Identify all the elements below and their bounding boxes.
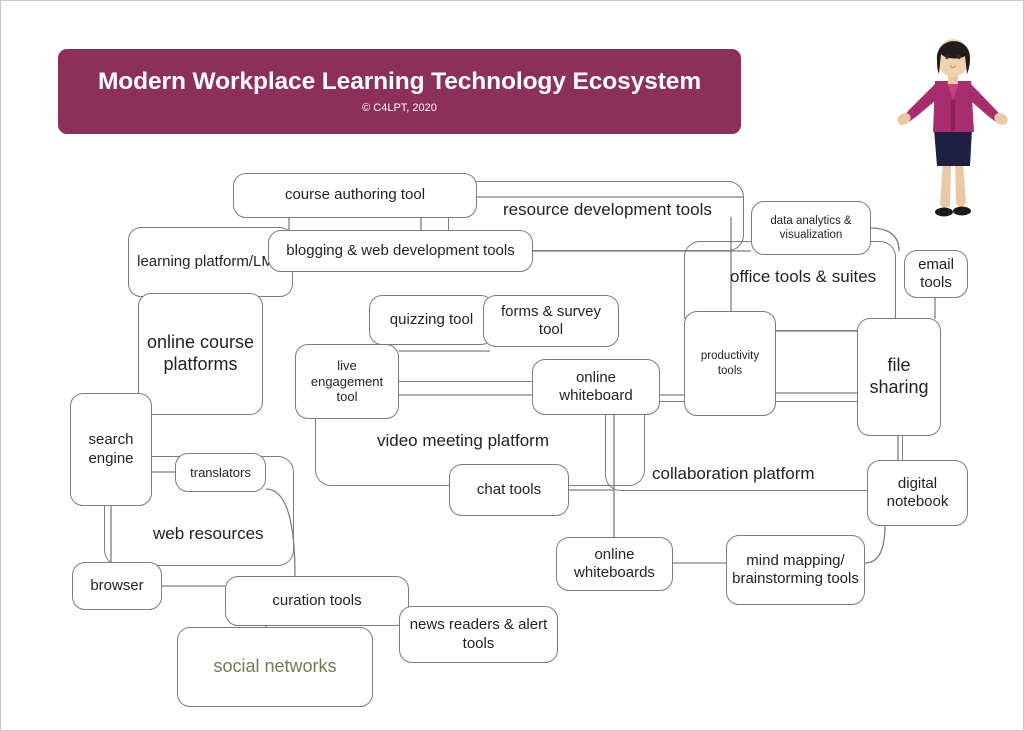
- node-file-sharing[interactable]: file sharing: [857, 318, 941, 436]
- ecosystem-diagram: resource development tools office tools …: [1, 1, 1024, 731]
- diagram-page: Modern Workplace Learning Technology Eco…: [0, 0, 1024, 731]
- node-data-analytics-visualization[interactable]: data analytics & visualization: [751, 201, 871, 255]
- region-label-resource-development-tools: resource development tools: [503, 200, 712, 220]
- node-online-whiteboards[interactable]: online whiteboards: [556, 537, 673, 591]
- node-online-course-platforms[interactable]: online course platforms: [138, 293, 263, 415]
- region-label-collaboration-platform: collaboration platform: [652, 464, 815, 484]
- node-chat-tools[interactable]: chat tools: [449, 464, 569, 516]
- node-digital-notebook[interactable]: digital notebook: [867, 460, 968, 526]
- node-quizzing-tool[interactable]: quizzing tool: [369, 295, 494, 345]
- node-social-networks[interactable]: social networks: [177, 627, 373, 707]
- node-live-engagement-tool[interactable]: live engagement tool: [295, 344, 399, 419]
- node-email-tools[interactable]: email tools: [904, 250, 968, 298]
- node-curation-tools[interactable]: curation tools: [225, 576, 409, 626]
- node-forms-survey-tool[interactable]: forms & survey tool: [483, 295, 619, 347]
- region-label-web-resources: web resources: [153, 524, 264, 544]
- node-news-readers-alert-tools[interactable]: news readers & alert tools: [399, 606, 558, 663]
- region-label-video-meeting-platform: video meeting platform: [377, 431, 549, 451]
- node-blogging-web-development-tools[interactable]: blogging & web development tools: [268, 230, 533, 272]
- node-mind-mapping-brainstorming-tools[interactable]: mind mapping/ brainstorming tools: [726, 535, 865, 605]
- node-online-whiteboard[interactable]: online whiteboard: [532, 359, 660, 415]
- node-course-authoring-tool[interactable]: course authoring tool: [233, 173, 477, 218]
- node-search-engine[interactable]: search engine: [70, 393, 152, 506]
- node-productivity-tools[interactable]: productivity tools: [684, 311, 776, 416]
- node-translators[interactable]: translators: [175, 453, 266, 492]
- node-browser[interactable]: browser: [72, 562, 162, 610]
- region-label-office-tools-suites: office tools & suites: [730, 267, 876, 287]
